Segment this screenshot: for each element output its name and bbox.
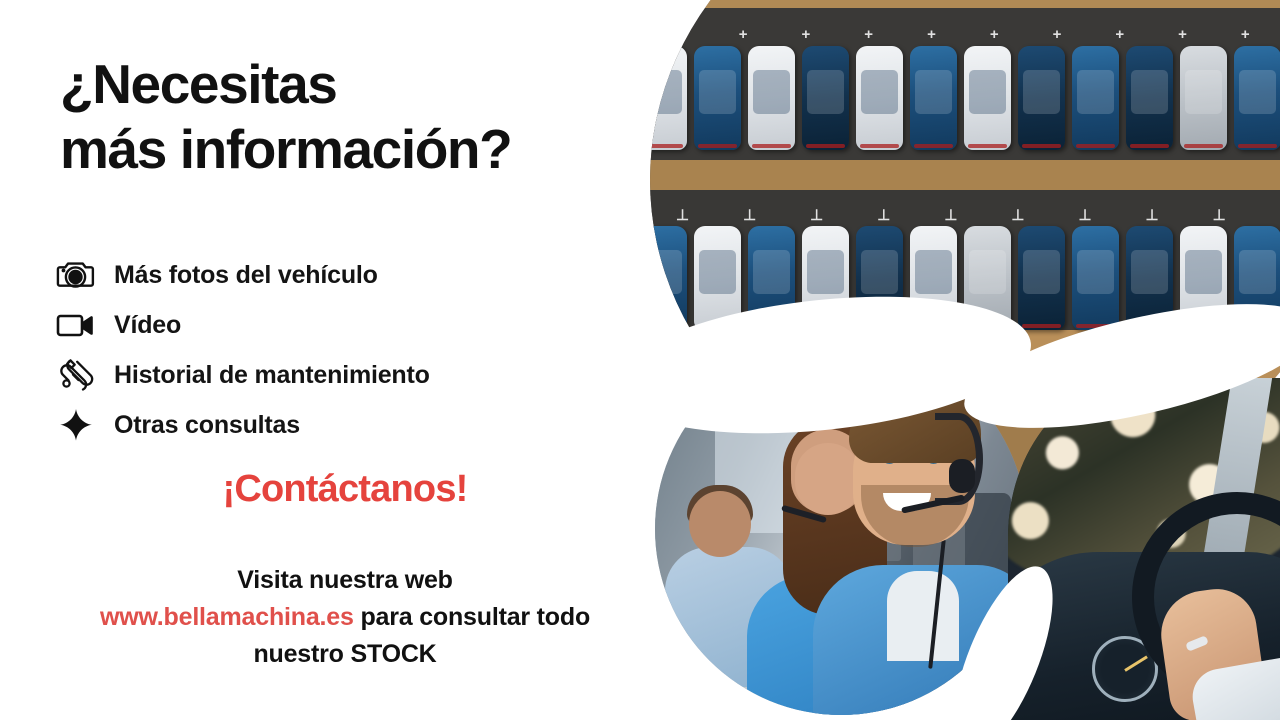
- list-item: Otras consultas: [52, 400, 652, 450]
- driver-hand: [1156, 584, 1269, 720]
- list-item: Historial de mantenimiento: [52, 350, 652, 400]
- website-url[interactable]: www.bellamachina.es: [100, 603, 354, 631]
- lot-ground: [650, 0, 1280, 500]
- headline-line-1: ¿Necesitas: [60, 52, 680, 117]
- camera-icon: [52, 255, 100, 295]
- feature-label: Vídeo: [114, 311, 181, 340]
- tools-wrench-icon: [52, 355, 100, 395]
- a-pillar: [1195, 378, 1274, 618]
- website-block: Visita nuestra web www.bellamachina.es p…: [0, 562, 690, 673]
- website-line-3: nuestro STOCK: [0, 636, 690, 673]
- shirt-sleeve: [1188, 655, 1280, 720]
- headline-line-2: más información?: [60, 117, 680, 182]
- contact-cta: ¡Contáctanos!: [0, 468, 690, 511]
- collage-gap-curve: [933, 554, 1073, 720]
- feature-list: Más fotos del vehículo Vídeo: [52, 250, 652, 450]
- office-background: [655, 343, 1027, 715]
- feature-label: Más fotos del vehículo: [114, 261, 378, 290]
- car-row: [650, 46, 1280, 150]
- lot-marks: +++++ +++++: [650, 26, 1280, 43]
- list-item: Más fotos del vehículo: [52, 250, 652, 300]
- steering-wheel: [1132, 492, 1280, 702]
- call-center-photo: [655, 343, 1027, 715]
- text-column: ¿Necesitas más información? Más fotos de…: [0, 0, 690, 720]
- car-row: [650, 226, 1280, 330]
- website-line-2-rest: para consultar todo: [354, 603, 590, 631]
- aerial-car-lot-photo: +++++ +++++ ⊥⊥⊥⊥⊥ ⊥⊥⊥⊥⊥: [650, 0, 1280, 500]
- page-title: ¿Necesitas más información?: [60, 52, 680, 182]
- car-lot-scene: +++++ +++++ ⊥⊥⊥⊥⊥ ⊥⊥⊥⊥⊥: [650, 0, 1280, 500]
- sparkle-icon: [52, 405, 100, 445]
- website-line-2: www.bellamachina.es para consultar todo: [0, 599, 690, 636]
- windshield-trees: [1008, 378, 1280, 580]
- feature-label: Historial de mantenimiento: [114, 361, 430, 390]
- collage-gap-curve: [954, 279, 1280, 454]
- dashboard: [1008, 552, 1280, 720]
- wedding-ring: [1185, 635, 1209, 652]
- promo-poster: +++++ +++++ ⊥⊥⊥⊥⊥ ⊥⊥⊥⊥⊥: [0, 0, 1280, 720]
- feature-label: Otras consultas: [114, 411, 300, 440]
- speedometer-gauge: [1092, 636, 1158, 702]
- website-line-1: Visita nuestra web: [0, 562, 690, 599]
- list-item: Vídeo: [52, 300, 652, 350]
- agent-front-man: [823, 389, 1027, 715]
- lot-marks: ⊥⊥⊥⊥⊥ ⊥⊥⊥⊥⊥: [650, 206, 1280, 224]
- agent-middle-woman: [747, 425, 937, 715]
- video-camera-icon: [52, 305, 100, 345]
- car-row: [650, 406, 1280, 500]
- driving-interior-photo: [1008, 378, 1280, 720]
